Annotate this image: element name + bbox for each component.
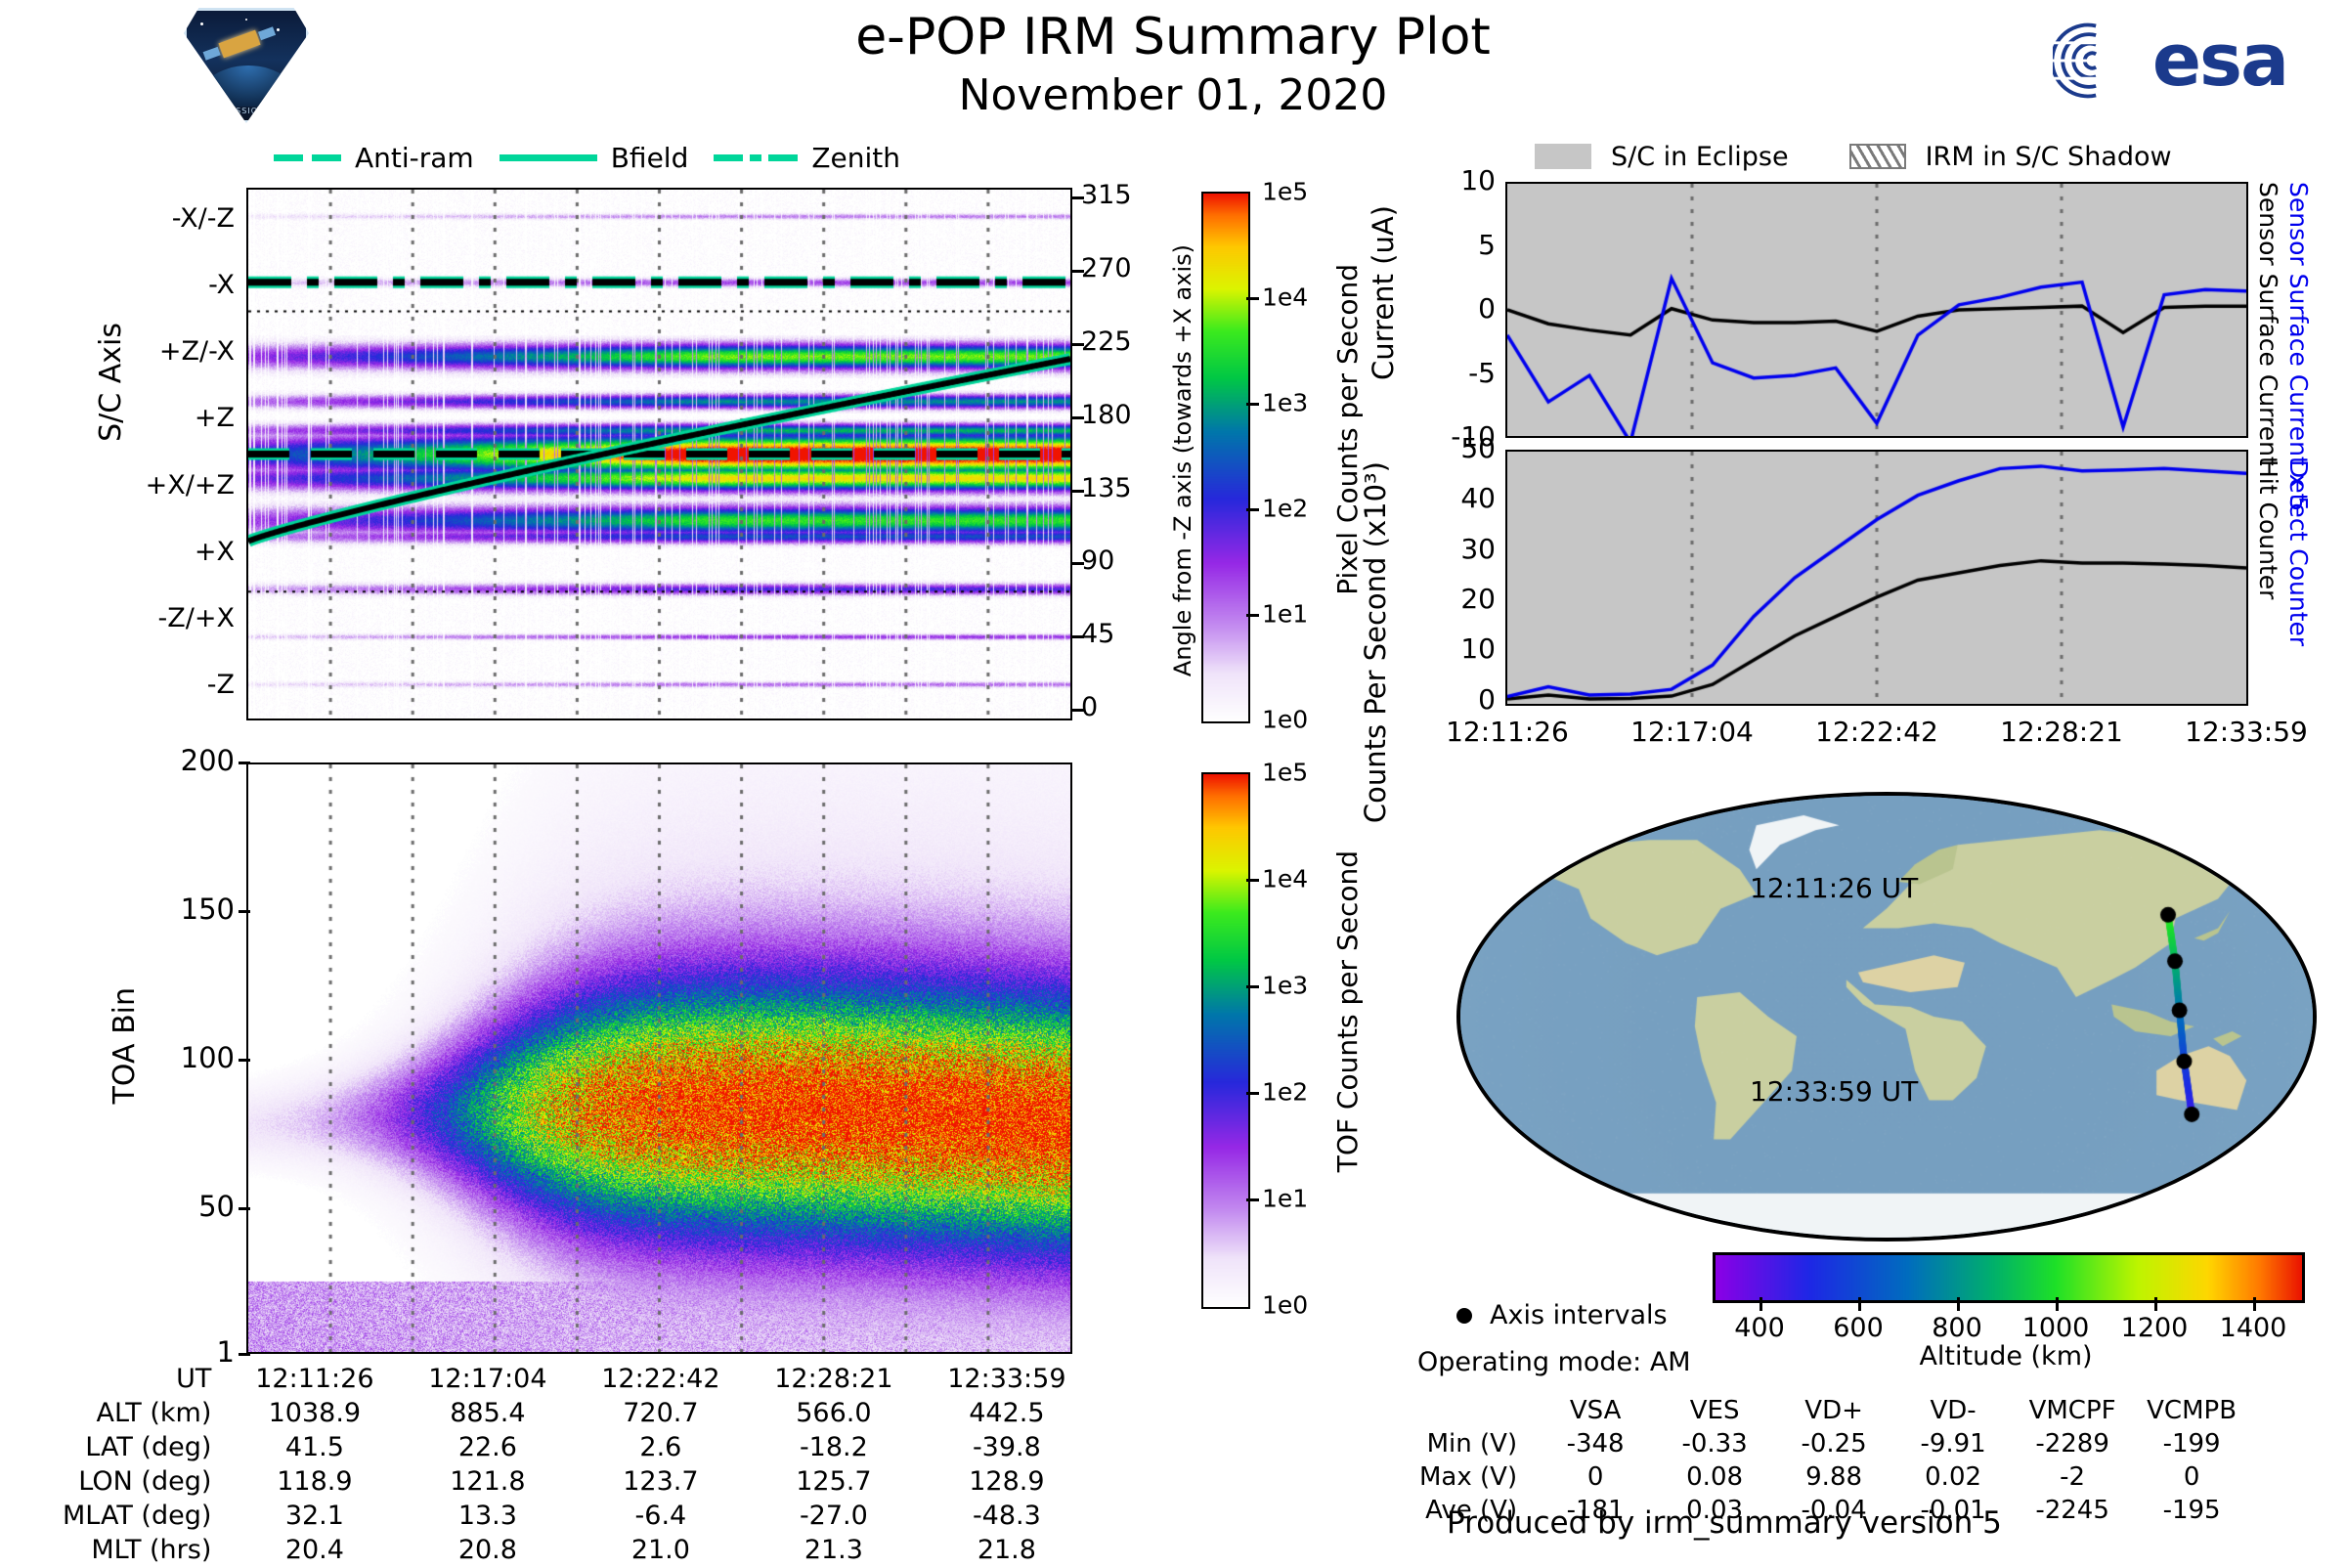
footer-text: Produced by irm_summary version 5 [1447, 1505, 2002, 1541]
toa-tick-mark [239, 910, 250, 913]
ephemeris-cell: -27.0 [748, 1500, 919, 1532]
table-row: UT12:11:2612:17:0412:22:4212:28:2112:33:… [63, 1363, 1092, 1395]
ground-track-map: 12:11:26 UT 12:33:59 UT [1456, 792, 2317, 1241]
voltage-cell: 0 [1537, 1461, 1654, 1493]
spectrogram-ytick-label: +Z/-X [0, 336, 235, 367]
ephemeris-cell: 21.8 [921, 1534, 1092, 1566]
page-subtitle: November 01, 2020 [0, 70, 2346, 120]
eclipse-swatch-icon [1535, 144, 1591, 169]
spectrogram-ytick-right-label: 225 [1081, 327, 1169, 357]
voltage-cell: 0 [2133, 1461, 2250, 1493]
colorbar-tick-label: 1e0 [1262, 1291, 1308, 1320]
ephemeris-cell: 118.9 [229, 1465, 400, 1498]
voltage-cell: -0.33 [1656, 1428, 1773, 1459]
esa-wordmark: esa [2152, 24, 2287, 97]
voltage-cell: -9.91 [1894, 1428, 2012, 1459]
colorbar-tick-mark [1246, 614, 1259, 617]
ephemeris-cell: 22.6 [402, 1431, 573, 1463]
spectrogram-ytick-label: -Z/+X [0, 603, 235, 633]
spectrogram-right-axis-label: Angle from -Z axis (towards +X axis) [1169, 244, 1196, 676]
legend-label-eclipse: S/C in Eclipse [1611, 142, 1789, 172]
voltage-cell: -195 [2133, 1495, 2250, 1526]
voltage-row-label: Min (V) [1419, 1428, 1535, 1459]
spectrogram-ytick-right-label: 90 [1081, 545, 1169, 576]
table-row: MLT (hrs)20.420.821.021.321.8 [63, 1534, 1092, 1566]
colorbar-tick-mark [1246, 508, 1259, 511]
voltage-cell: -0.25 [1775, 1428, 1892, 1459]
altitude-colorbar-label: Altitude (km) [1713, 1341, 2299, 1372]
time-tick-label: 12:33:59 [2153, 716, 2339, 748]
toa-ytick-label: 50 [39, 1190, 235, 1223]
spectrogram-legend: Anti-ram Bfield Zenith [274, 137, 997, 178]
ephemeris-cell: 128.9 [921, 1465, 1092, 1498]
ephemeris-cell: 125.7 [748, 1465, 919, 1498]
voltage-column-header: VES [1656, 1395, 1773, 1426]
spectrogram-right-tick-mark [1072, 416, 1084, 419]
voltage-column-header: VSA [1537, 1395, 1654, 1426]
ephemeris-cell: 1038.9 [229, 1397, 400, 1429]
counts-ytick-label: 20 [1368, 583, 1496, 615]
table-row: ALT (km)1038.9885.4720.7566.0442.5 [63, 1397, 1092, 1429]
voltage-column-header: VMCPF [2014, 1395, 2131, 1426]
counts-right-label-blue: Detect Counter [2284, 459, 2313, 646]
spectrogram-ytick-right-label: 270 [1081, 253, 1169, 283]
spectrogram-ytick-right-label: 45 [1081, 619, 1169, 649]
ephemeris-cell: 32.1 [229, 1500, 400, 1532]
colorbar-tick-label: 1e3 [1262, 389, 1308, 417]
ephemeris-cell: 13.3 [402, 1500, 573, 1532]
counts-plot-lines [1507, 452, 2246, 704]
legend-label-bfield: Bfield [611, 142, 689, 174]
ephemeris-cell: 442.5 [921, 1397, 1092, 1429]
altitude-tick-label: 400 [1711, 1313, 1808, 1343]
cassiope-mission-patch-icon: CASSIOPE [184, 8, 309, 123]
colorbar-tick-mark [1246, 879, 1259, 882]
axis-interval-dot-icon [1456, 1308, 1472, 1324]
page-title: e-POP IRM Summary Plot [0, 8, 2346, 66]
ephemeris-cell: 20.4 [229, 1534, 400, 1566]
zenith-line-icon [714, 154, 798, 161]
colorbar-tick-label: 1e3 [1262, 972, 1308, 1000]
colorbar-tick-label: 1e4 [1262, 283, 1308, 312]
colorbar-tick-label: 1e4 [1262, 865, 1308, 893]
ephemeris-table: UT12:11:2612:17:0412:22:4212:28:2112:33:… [61, 1361, 1094, 1568]
table-row: Min (V)-348-0.33-0.25-9.91-2289-199 [1419, 1428, 2250, 1459]
bfield-line-icon [500, 154, 597, 161]
ephemeris-cell: 21.0 [575, 1534, 746, 1566]
legend-label-zenith: Zenith [811, 142, 900, 174]
current-ytick-label: 5 [1368, 229, 1496, 261]
map-start-time-label: 12:11:26 UT [1750, 872, 1918, 904]
altitude-tick-label: 1200 [2106, 1313, 2203, 1343]
spectrogram-ytick-right-label: 0 [1081, 692, 1169, 722]
voltage-row-label: Max (V) [1419, 1461, 1535, 1493]
table-row: Max (V)00.089.880.02-20 [1419, 1461, 2250, 1493]
current-right-label-black: Sensor Surface Current [2254, 182, 2282, 466]
time-tick-label: 12:17:04 [1599, 716, 1785, 748]
ephemeris-cell: 123.7 [575, 1465, 746, 1498]
ephemeris-row-label: UT [63, 1363, 227, 1395]
esa-mark-icon [2053, 18, 2147, 104]
operating-mode-label: Operating mode: AM [1417, 1347, 1691, 1377]
colorbar-tick-label: 1e5 [1262, 178, 1308, 206]
colorbar-tick-mark [1246, 403, 1259, 406]
time-tick-label: 12:22:42 [1784, 716, 1970, 748]
legend-label-shadow: IRM in S/C Shadow [1926, 142, 2172, 172]
voltage-cell: -2289 [2014, 1428, 2131, 1459]
colorbar-tick-mark [1246, 297, 1259, 300]
sc-axis-spectrogram-image [248, 190, 1070, 719]
eclipse-shadow-legend: S/C in Eclipse IRM in S/C Shadow [1535, 137, 2336, 176]
world-map-image [1460, 796, 2313, 1238]
voltage-cell: -199 [2133, 1428, 2250, 1459]
spectrogram-right-tick-mark [1072, 196, 1084, 199]
counts-ytick-label: 10 [1368, 632, 1496, 665]
spectrogram-right-tick-mark [1072, 709, 1084, 712]
table-row: LAT (deg)41.522.62.6-18.2-39.8 [63, 1431, 1092, 1463]
altitude-tick-mark [2056, 1297, 2059, 1311]
spectrogram-ytick-label: -X [0, 270, 235, 300]
ephemeris-cell: 2.6 [575, 1431, 746, 1463]
counts-ytick-label: 30 [1368, 533, 1496, 565]
voltage-cell: 0.08 [1656, 1461, 1773, 1493]
colorbar-tick-label: 1e1 [1262, 600, 1308, 629]
ephemeris-cell: 12:22:42 [575, 1363, 746, 1395]
spectrogram-ytick-label: +X [0, 537, 235, 567]
altitude-tick-label: 600 [1809, 1313, 1907, 1343]
ephemeris-cell: 885.4 [402, 1397, 573, 1429]
voltage-column-header: VD- [1894, 1395, 2012, 1426]
altitude-tick-mark [1957, 1297, 1960, 1311]
voltage-cell: 9.88 [1775, 1461, 1892, 1493]
toa-tick-mark [239, 1207, 250, 1210]
spectrogram-right-tick-mark [1072, 343, 1084, 346]
spectrogram-ytick-right-label: 180 [1081, 400, 1169, 430]
altitude-tick-mark [2154, 1297, 2157, 1311]
ephemeris-cell: 720.7 [575, 1397, 746, 1429]
voltage-cell: 0.02 [1894, 1461, 2012, 1493]
spectrogram-right-tick-mark [1072, 270, 1084, 273]
table-row: MLAT (deg)32.113.3-6.4-27.0-48.3 [63, 1500, 1092, 1532]
voltage-column-header: VD+ [1775, 1395, 1892, 1426]
current-plot-lines [1507, 184, 2246, 436]
ephemeris-cell: 12:17:04 [402, 1363, 573, 1395]
altitude-tick-label: 1400 [2204, 1313, 2302, 1343]
spectrogram-ytick-label: +Z [0, 403, 235, 433]
toa-ytick-label: 100 [39, 1041, 235, 1074]
spectrogram-right-tick-mark [1072, 562, 1084, 565]
toa-tick-mark [239, 762, 250, 764]
ephemeris-row-label: ALT (km) [63, 1397, 227, 1429]
time-tick-label: 12:11:26 [1414, 716, 1600, 748]
spectrogram-ytick-label: -Z [0, 670, 235, 700]
ephemeris-row-label: MLT (hrs) [63, 1534, 227, 1566]
toa-tick-mark [239, 1059, 250, 1062]
colorbar-tick-mark [1246, 1198, 1259, 1201]
colorbar-tick-mark [1246, 1092, 1259, 1095]
axis-intervals-label: Axis intervals [1490, 1300, 1668, 1330]
altitude-tick-label: 800 [1908, 1313, 2006, 1343]
altitude-tick-mark [2253, 1297, 2256, 1311]
ephemeris-cell: 12:33:59 [921, 1363, 1092, 1395]
ephemeris-cell: 121.8 [402, 1465, 573, 1498]
toa-bin-spectrogram-image [248, 764, 1070, 1352]
ephemeris-cell: -6.4 [575, 1500, 746, 1532]
ephemeris-row-label: MLAT (deg) [63, 1500, 227, 1532]
spectrogram-ytick-right-label: 315 [1081, 180, 1169, 210]
voltage-cell: -2 [2014, 1461, 2131, 1493]
altitude-colorbar-ticks: 400600800100012001400 [1713, 1252, 2319, 1340]
spectrogram-ytick-label: -X/-Z [0, 203, 235, 234]
anti-ram-line-icon [274, 154, 341, 161]
ephemeris-cell: 12:11:26 [229, 1363, 400, 1395]
altitude-tick-mark [1858, 1297, 1861, 1311]
current-ytick-label: 0 [1368, 292, 1496, 325]
colorbar-tick-mark [1246, 985, 1259, 988]
voltage-cell: -2245 [2014, 1495, 2131, 1526]
ephemeris-cell: 12:28:21 [748, 1363, 919, 1395]
counts-ytick-label: 40 [1368, 482, 1496, 514]
colorbar-tick-label: 1e2 [1262, 1078, 1308, 1107]
altitude-tick-label: 1000 [2007, 1313, 2105, 1343]
time-tick-label: 12:28:21 [1969, 716, 2154, 748]
spectrogram-right-tick-mark [1072, 490, 1084, 493]
voltage-cell: -348 [1537, 1428, 1654, 1459]
ephemeris-row-label: LAT (deg) [63, 1431, 227, 1463]
table-row: LON (deg)118.9121.8123.7125.7128.9 [63, 1465, 1092, 1498]
spectrogram-ytick-label: +X/+Z [0, 470, 235, 501]
axis-intervals-legend: Axis intervals [1456, 1300, 1668, 1330]
toa-ytick-label: 150 [39, 893, 235, 926]
esa-logo: esa [2053, 14, 2287, 108]
patch-label: CASSIOPE [187, 107, 306, 115]
toa-tick-mark [239, 1353, 250, 1356]
ephemeris-cell: -48.3 [921, 1500, 1092, 1532]
legend-label-anti-ram: Anti-ram [355, 142, 474, 174]
toa-ytick-label: 200 [39, 744, 235, 777]
counts-ytick-label: 50 [1368, 432, 1496, 464]
colorbar-tick-label: 1e0 [1262, 706, 1308, 734]
colorbar-tick-label: 1e1 [1262, 1185, 1308, 1213]
ephemeris-cell: 20.8 [402, 1534, 573, 1566]
ephemeris-cell: 41.5 [229, 1431, 400, 1463]
voltage-corner [1419, 1395, 1535, 1426]
colorbar-tick-label: 1e5 [1262, 759, 1308, 787]
tof-counts-colorbar-label: TOF Counts per Second [1331, 850, 1364, 1172]
ephemeris-cell: -39.8 [921, 1431, 1092, 1463]
colorbar-tick-label: 1e2 [1262, 495, 1308, 523]
ephemeris-row-label: LON (deg) [63, 1465, 227, 1498]
current-ytick-label: -5 [1368, 357, 1496, 389]
counts-right-label-black: Hit Counter [2254, 459, 2282, 599]
ephemeris-cell: 566.0 [748, 1397, 919, 1429]
current-ytick-label: 10 [1368, 164, 1496, 196]
spectrogram-ytick-right-label: 135 [1081, 473, 1169, 503]
shadow-swatch-icon [1849, 144, 1906, 169]
ephemeris-cell: 21.3 [748, 1534, 919, 1566]
voltage-column-header: VCMPB [2133, 1395, 2250, 1426]
ephemeris-cell: -18.2 [748, 1431, 919, 1463]
altitude-tick-mark [1759, 1297, 1762, 1311]
map-end-time-label: 12:33:59 UT [1750, 1075, 1918, 1108]
counts-ytick-label: 0 [1368, 683, 1496, 716]
spectrogram-right-tick-mark [1072, 635, 1084, 638]
